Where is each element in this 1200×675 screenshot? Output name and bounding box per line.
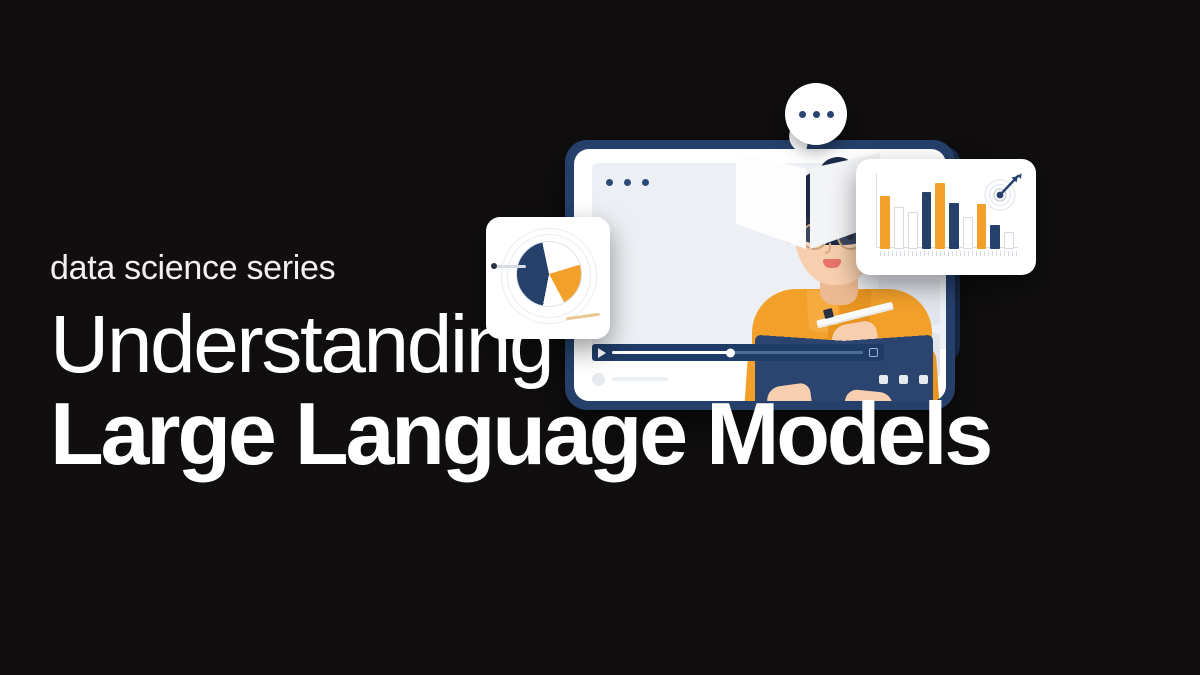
- series-eyebrow: data science series: [50, 250, 1170, 287]
- title-line-1: Understanding: [50, 305, 1170, 385]
- window-dot-2: [624, 179, 631, 186]
- bar-chart-y-axis: [876, 173, 877, 247]
- bar-5: [935, 183, 945, 249]
- title-line-2: Large Language Models: [50, 390, 1170, 478]
- bubble-dot-2: [813, 111, 820, 118]
- window-dots: [606, 179, 649, 186]
- bar-6: [949, 203, 959, 249]
- window-dot-1: [606, 179, 613, 186]
- bar-2: [894, 207, 904, 249]
- bar-4: [922, 192, 932, 249]
- bubble-dot-3: [827, 111, 834, 118]
- target-arrow-icon: [980, 169, 1024, 213]
- bar-7: [963, 217, 973, 249]
- book-page-left: [736, 153, 806, 249]
- bar-10: [1004, 232, 1014, 249]
- bar-9: [990, 225, 1000, 249]
- bubble-dot-1: [799, 111, 806, 118]
- text-block: data science series Understanding Large …: [50, 250, 1170, 478]
- speech-bubble: [785, 83, 847, 145]
- bar-3: [908, 212, 918, 249]
- slide-canvas: data science series Understanding Large …: [0, 0, 1200, 675]
- window-dot-3: [642, 179, 649, 186]
- bar-1: [880, 196, 890, 249]
